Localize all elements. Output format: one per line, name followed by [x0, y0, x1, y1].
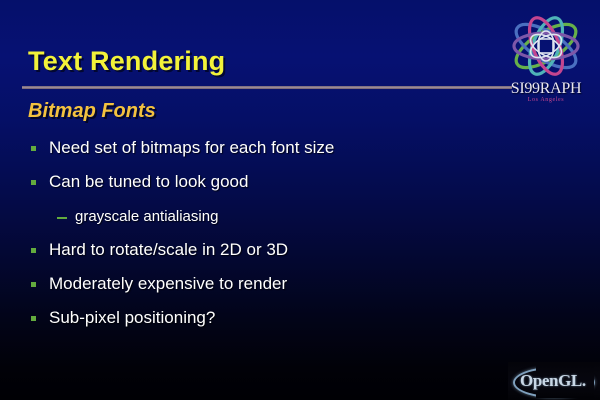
square-bullet-icon: [31, 282, 36, 287]
list-item: Moderately expensive to render: [0, 274, 470, 308]
siggraph-logo: SI99RAPH Los Angeles: [494, 8, 598, 106]
dash-bullet-icon: [57, 217, 67, 219]
siggraph-rings-icon: [500, 10, 592, 82]
list-item-sub: grayscale antialiasing: [0, 206, 470, 240]
bullet-list: Need set of bitmaps for each font size C…: [0, 138, 470, 342]
opengl-logo: OpenGL.: [508, 362, 600, 400]
square-bullet-icon: [31, 248, 36, 253]
list-item: Can be tuned to look good: [0, 172, 470, 206]
list-item-label: Hard to rotate/scale in 2D or 3D: [49, 240, 288, 260]
square-bullet-icon: [31, 180, 36, 185]
list-item-label: Sub-pixel positioning?: [49, 308, 215, 328]
slide-subtitle: Bitmap Fonts: [28, 100, 156, 123]
presentation-slide: Text Rendering Bitmap Fonts Need set of …: [0, 0, 600, 400]
siggraph-city-label: Los Angeles: [494, 97, 598, 103]
list-item: Hard to rotate/scale in 2D or 3D: [0, 240, 470, 274]
square-bullet-icon: [31, 316, 36, 321]
opengl-wordmark: OpenGL.: [520, 371, 586, 391]
list-item-label: Can be tuned to look good: [49, 172, 248, 192]
list-item: Sub-pixel positioning?: [0, 308, 470, 342]
list-item-label: Moderately expensive to render: [49, 274, 287, 294]
list-item-label: Need set of bitmaps for each font size: [49, 138, 334, 158]
list-item: Need set of bitmaps for each font size: [0, 138, 470, 172]
siggraph-wordmark: SI99RAPH: [494, 80, 598, 98]
slide-title: Text Rendering: [28, 46, 225, 77]
title-divider: [22, 86, 512, 89]
square-bullet-icon: [31, 146, 36, 151]
list-item-label: grayscale antialiasing: [75, 208, 218, 225]
